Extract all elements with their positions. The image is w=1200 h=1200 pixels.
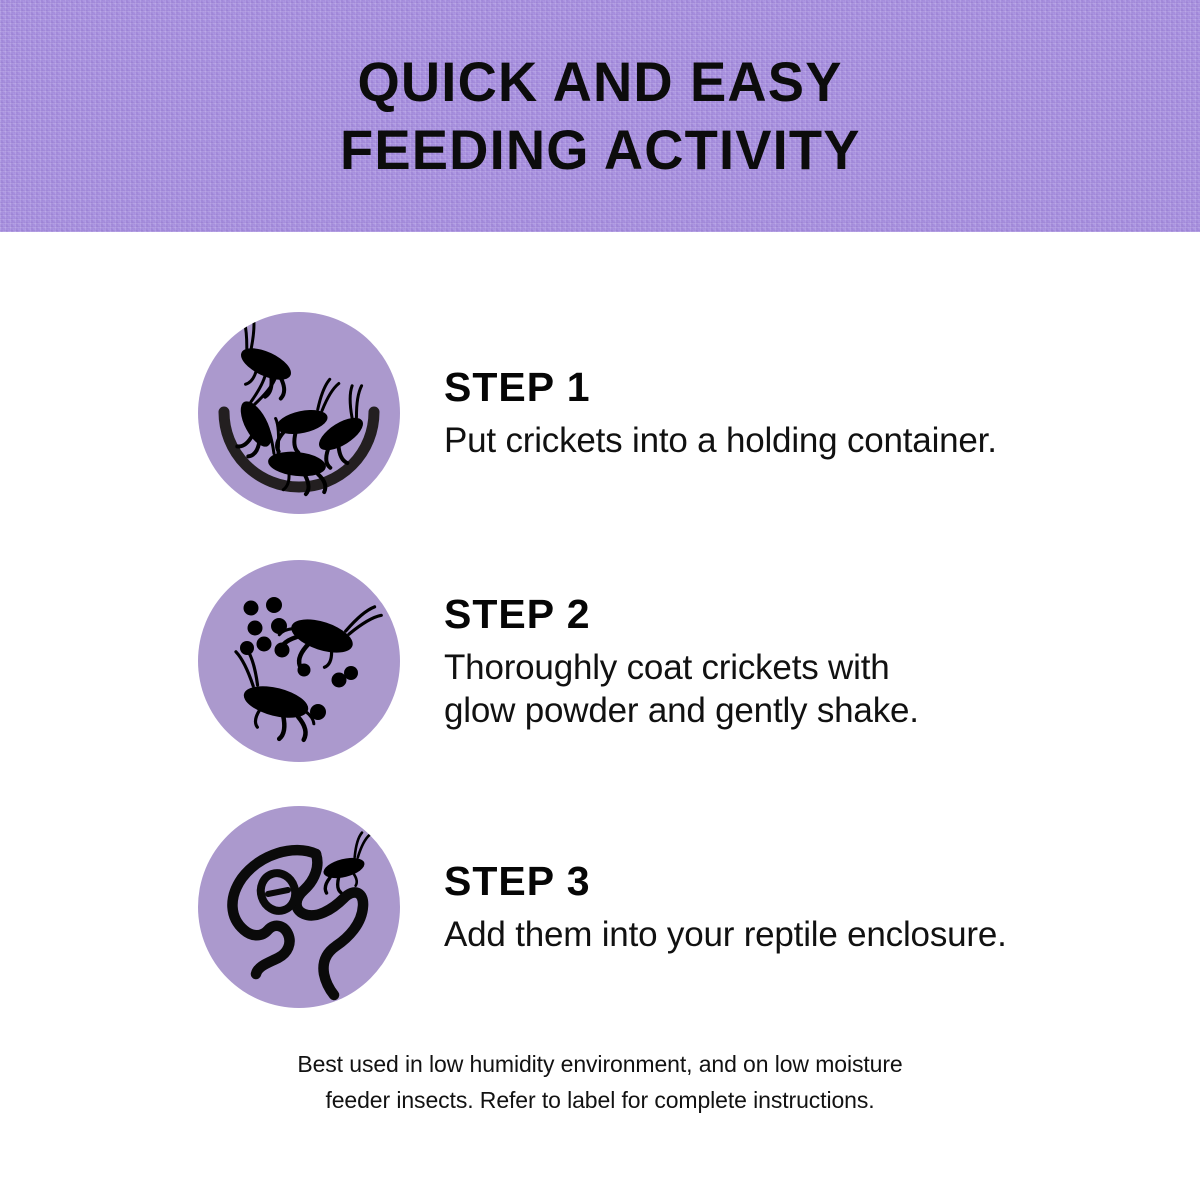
step-description-2: Thoroughly coat crickets with glow powde… (444, 646, 919, 732)
step-description-1: Put crickets into a holding container. (444, 419, 997, 462)
crickets-in-bowl-icon (198, 312, 400, 514)
page-title-line-1: QUICK AND EASY (357, 48, 842, 116)
step-text-block-3: STEP 3 Add them into your reptile enclos… (444, 858, 1007, 956)
reptile-with-cricket-icon (198, 806, 400, 1008)
step-description-3: Add them into your reptile enclosure. (444, 913, 1007, 956)
step-item-1: STEP 1 Put crickets into a holding conta… (0, 310, 1200, 516)
step-label-2: STEP 2 (444, 591, 919, 637)
step-item-3: STEP 3 Add them into your reptile enclos… (0, 804, 1200, 1010)
step-item-2: STEP 2 Thoroughly coat crickets with glo… (0, 558, 1200, 764)
header-banner: QUICK AND EASY FEEDING ACTIVITY (0, 0, 1200, 232)
step-text-block-1: STEP 1 Put crickets into a holding conta… (444, 364, 997, 462)
step-label-1: STEP 1 (444, 364, 997, 410)
page-title-line-2: FEEDING ACTIVITY (340, 116, 861, 184)
step-label-3: STEP 3 (444, 858, 1007, 904)
step-text-block-2: STEP 2 Thoroughly coat crickets with glo… (444, 591, 919, 732)
crickets-with-powder-icon (198, 560, 400, 762)
infographic-page: QUICK AND EASY FEEDING ACTIVITY (0, 0, 1200, 1200)
footer-disclaimer: Best used in low humidity environment, a… (0, 1046, 1200, 1118)
